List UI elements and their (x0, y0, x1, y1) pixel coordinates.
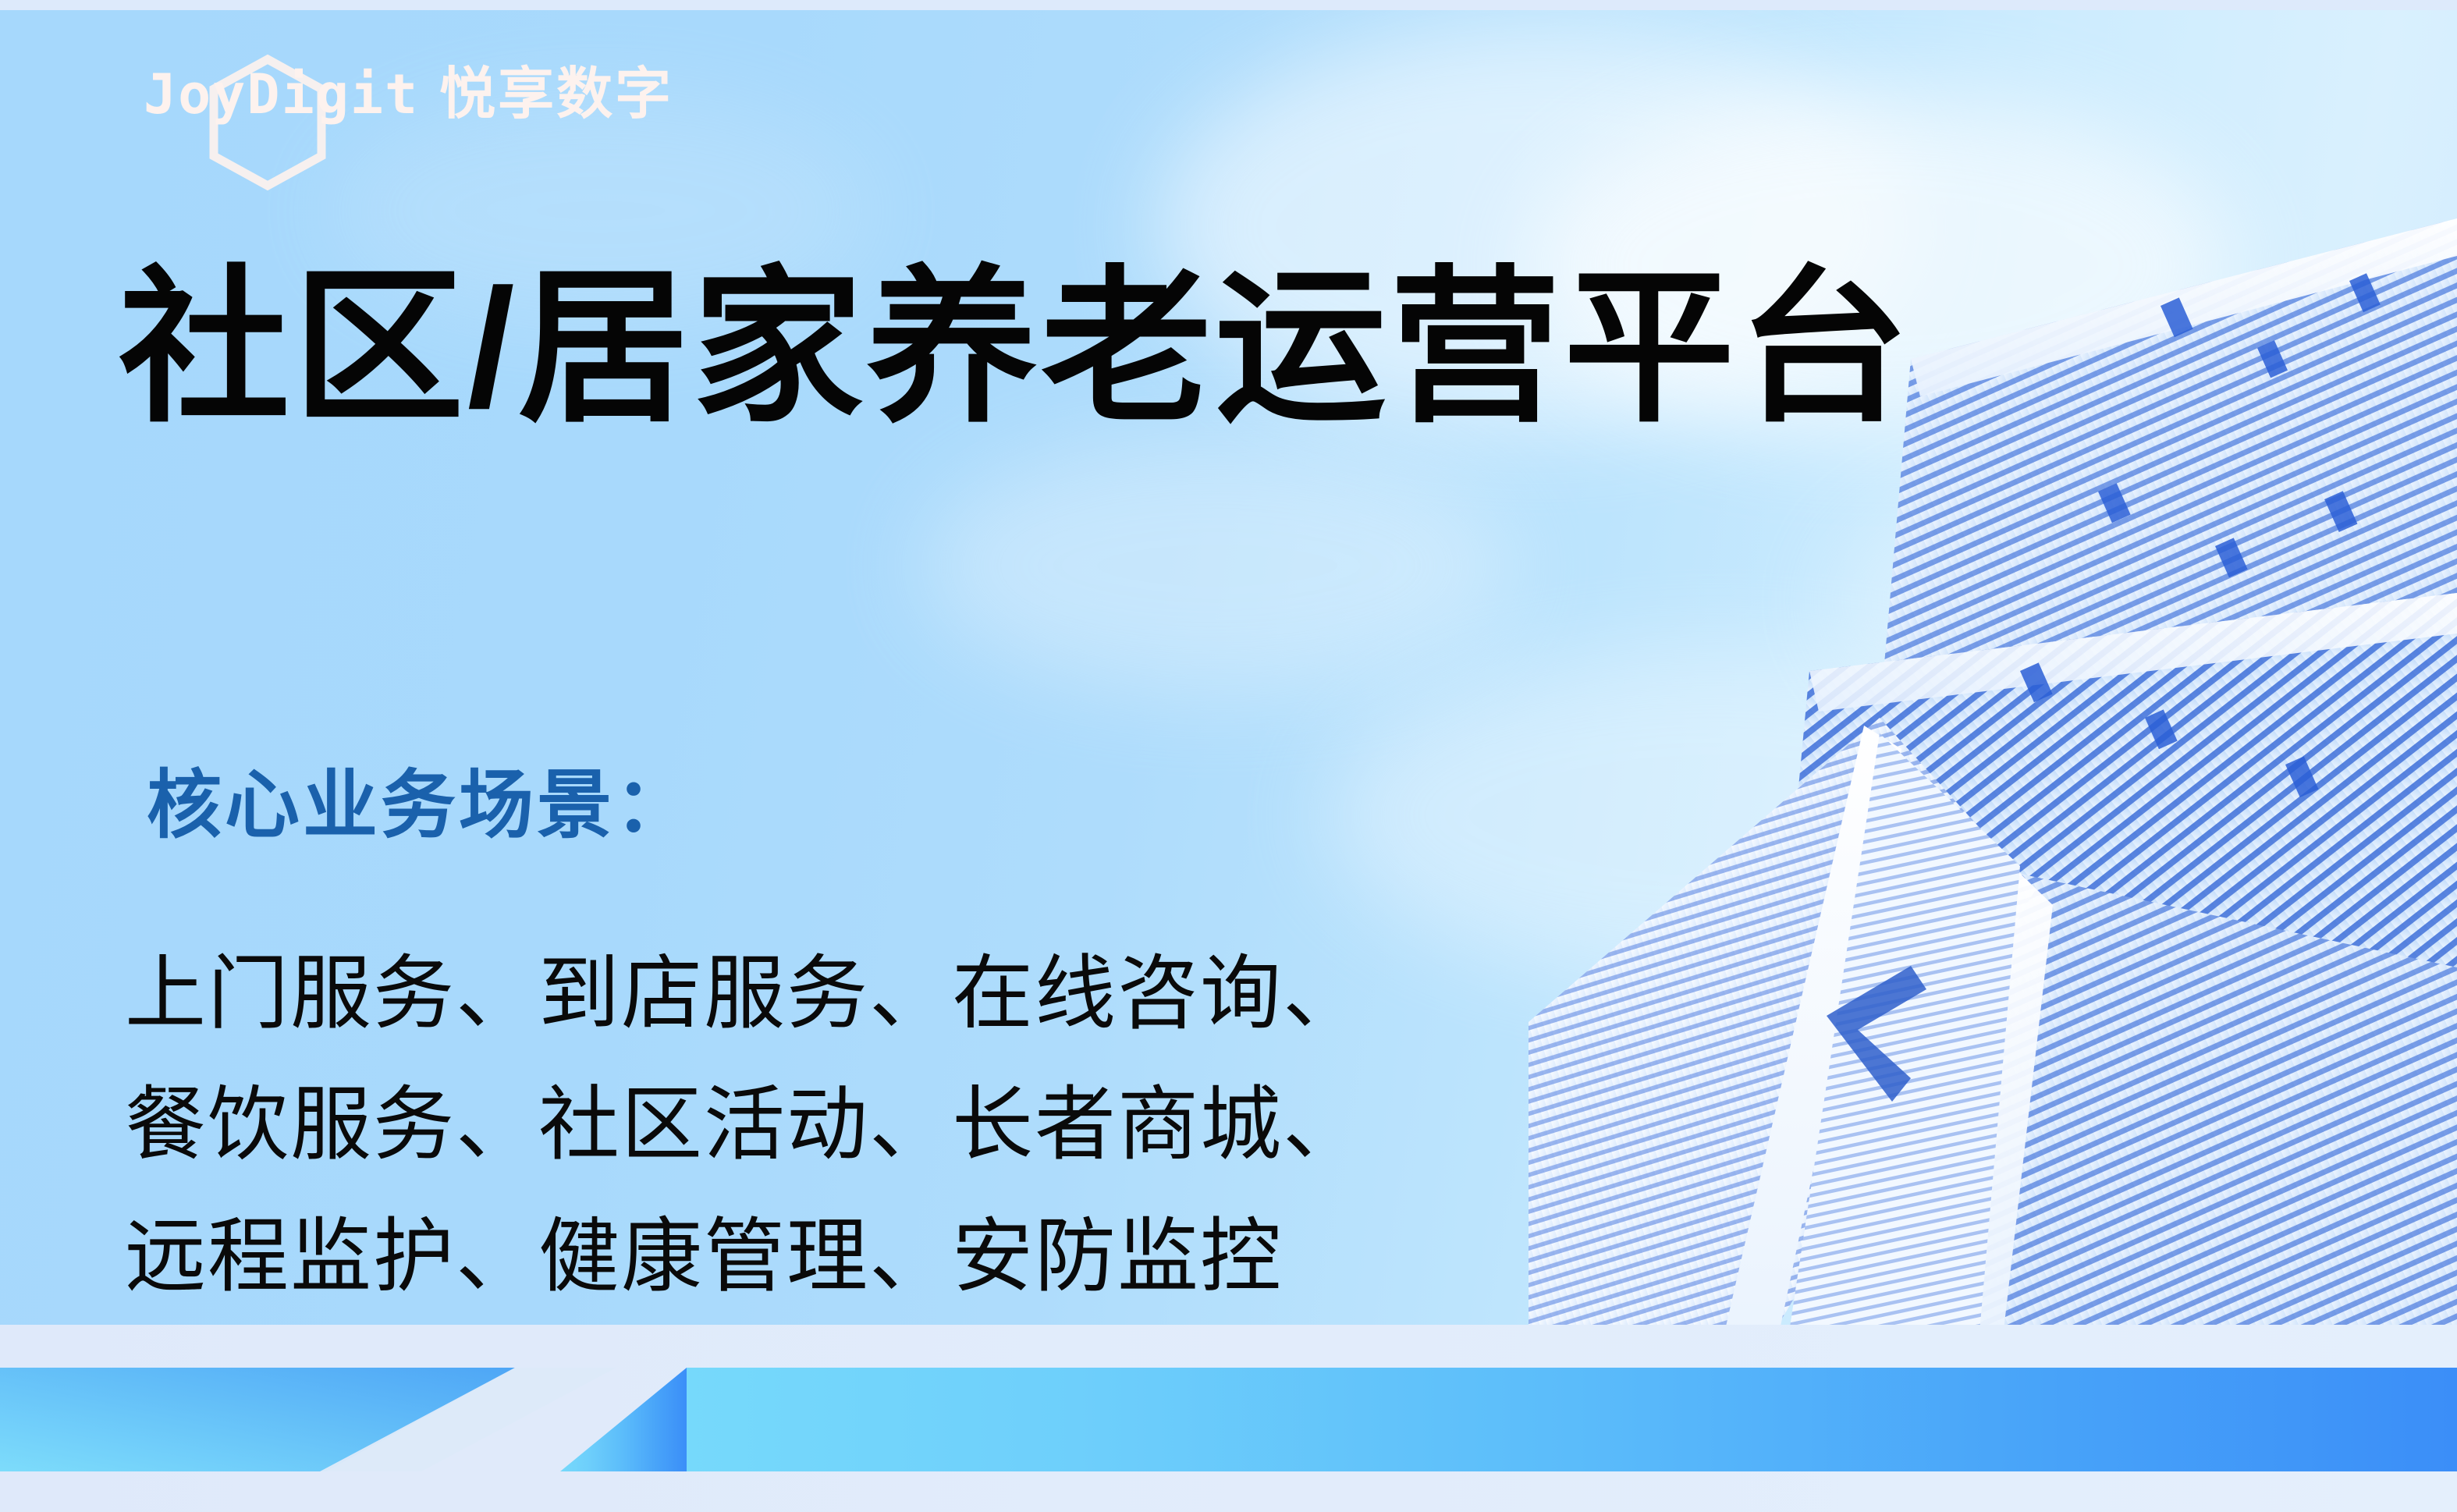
top-edge-strip (0, 0, 2457, 10)
scenario-line: 上门服务、到店服务、在线咨询、 (125, 928, 1365, 1059)
brand-logo: JoyDigit 悦享数字 (144, 48, 673, 140)
page-title: 社区/居家养老运营平台 (119, 257, 1912, 438)
scenario-line: 餐饮服务、社区活动、长者商城、 (125, 1059, 1365, 1191)
brand-logo-mark: JoyDigit (144, 67, 419, 122)
cloud-decoration (921, 437, 1514, 694)
section-heading: 核心业务场景： (147, 768, 693, 843)
scenario-line: 远程监护、健康管理、安防监控 (125, 1191, 1365, 1322)
bottom-decorative-band (0, 1325, 2457, 1512)
brand-logo-cn: 悦享数字 (439, 66, 673, 122)
scenario-list: 上门服务、到店服务、在线咨询、 餐饮服务、社区活动、长者商城、 远程监护、健康管… (125, 928, 1365, 1322)
slide-canvas: JoyDigit 悦享数字 社区/居家养老运营平台 核心业务场景： 上门服务、到… (0, 0, 2457, 1512)
